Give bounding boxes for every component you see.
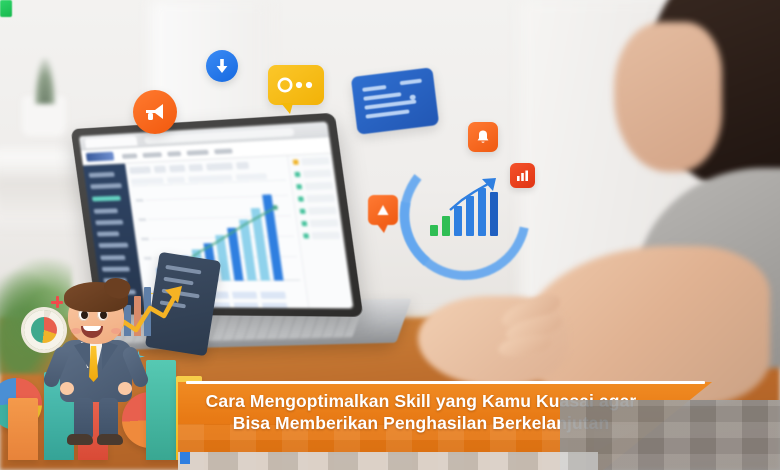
bottom-strip-mosaic: [178, 452, 598, 470]
content-filters: [131, 172, 286, 186]
bottom-strip-accent: [180, 452, 190, 464]
growth-bar-chart: [428, 186, 506, 242]
play-badge-icon[interactable]: [368, 195, 398, 225]
info-bar: [146, 360, 176, 460]
info-bar: [8, 398, 38, 460]
businessman-mascot: [48, 282, 144, 442]
chat-glyph: [277, 77, 315, 93]
toolbar-chip[interactable]: [206, 163, 233, 171]
menu-item[interactable]: [214, 148, 233, 154]
filter-chip[interactable]: [188, 175, 232, 183]
sidebar-item[interactable]: [90, 183, 122, 189]
shelf-plant-icon: [34, 58, 56, 104]
menu-item[interactable]: [142, 152, 162, 158]
megaphone-icon[interactable]: [133, 90, 177, 134]
mascot-shoe: [67, 434, 93, 445]
menu-item[interactable]: [122, 153, 138, 159]
browser-tab[interactable]: [85, 136, 138, 148]
sidebar-item[interactable]: [89, 172, 115, 178]
filter-chip[interactable]: [131, 178, 164, 185]
sidebar-item[interactable]: [97, 231, 120, 236]
mascot-hand: [60, 382, 74, 395]
filter-chip[interactable]: [167, 177, 185, 184]
megaphone-glyph: [143, 101, 167, 123]
person-neck: [614, 22, 722, 172]
download-glyph: [215, 58, 229, 74]
sidebar-item[interactable]: [98, 243, 128, 248]
growth-arrow-icon: [448, 176, 506, 214]
sidebar-item[interactable]: [102, 267, 130, 272]
toolbar-chip[interactable]: [188, 164, 203, 172]
toolbar-chip[interactable]: [169, 165, 185, 173]
mascot-cheek: [71, 328, 81, 334]
toolbar-chip[interactable]: [236, 162, 249, 170]
bell-glyph: [476, 129, 490, 145]
screenshot-stage: Cara Mengoptimalkan Skill yang Kamu Kuas…: [0, 0, 780, 470]
toolbar-chip[interactable]: [154, 166, 166, 173]
document-card-icon[interactable]: [351, 67, 439, 135]
chat-bubble-icon[interactable]: [268, 65, 324, 105]
sidebar-item-active[interactable]: [92, 196, 121, 202]
mascot-cheek: [111, 328, 121, 334]
download-arrow-icon[interactable]: [206, 50, 238, 82]
filter-chip[interactable]: [236, 173, 267, 180]
toolbar-chip[interactable]: [129, 166, 151, 174]
app-logo: [86, 152, 115, 162]
menu-item[interactable]: [167, 151, 181, 157]
menu-item[interactable]: [186, 149, 208, 155]
notification-bell-icon[interactable]: [468, 122, 498, 152]
sidebar-item[interactable]: [95, 220, 123, 225]
mascot-hand: [118, 382, 132, 395]
info-bar: [176, 376, 202, 460]
sidebar-item[interactable]: [100, 255, 125, 260]
mascot-shoe: [97, 434, 123, 445]
green-tag-icon[interactable]: [0, 0, 12, 17]
sidebar-item[interactable]: [94, 208, 118, 213]
play-glyph: [376, 203, 390, 217]
